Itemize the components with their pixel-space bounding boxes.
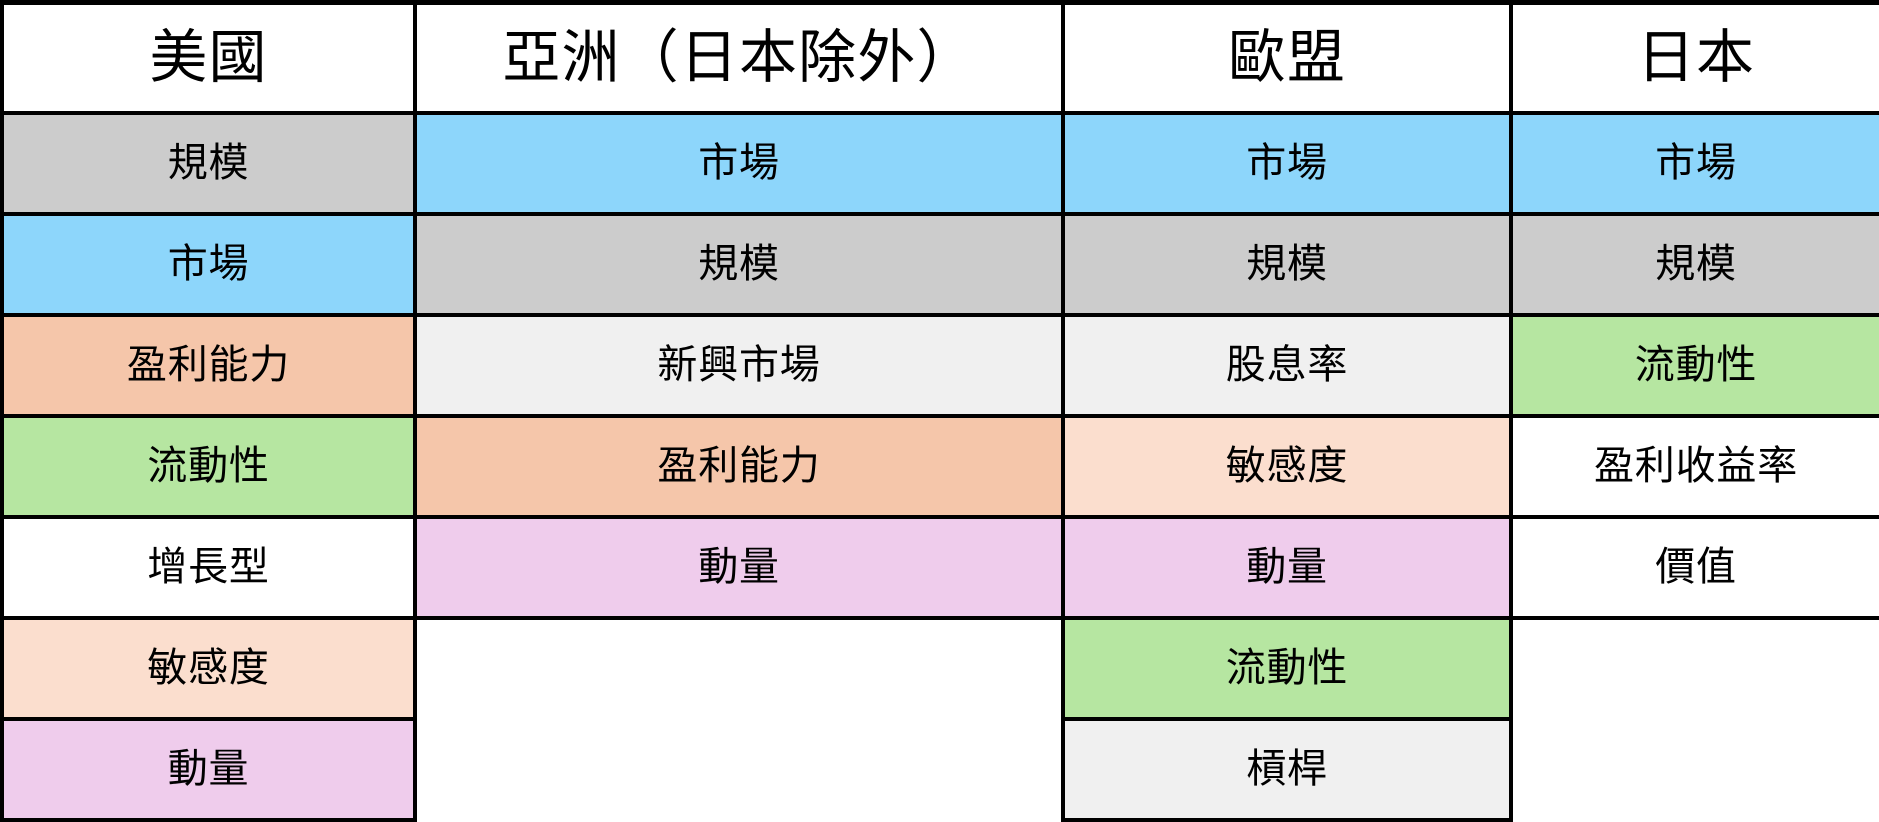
factor-cell: 市場 — [1511, 113, 1879, 214]
factor-cell: 槓桿 — [1063, 719, 1511, 820]
table-header: 美國 亞洲（日本除外） 歐盟 日本 — [2, 3, 1879, 113]
factor-cell: 動量 — [1063, 517, 1511, 618]
factor-table-container: 美國 亞洲（日本除外） 歐盟 日本 規模市場市場市場市場規模規模規模盈利能力新興… — [0, 0, 1879, 819]
factor-cell: 流動性 — [2, 416, 415, 517]
header-row: 美國 亞洲（日本除外） 歐盟 日本 — [2, 3, 1879, 113]
factor-cell: 敏感度 — [2, 618, 415, 719]
factor-cell: 規模 — [2, 113, 415, 214]
factor-cell: 盈利收益率 — [1511, 416, 1879, 517]
factor-cell: 市場 — [415, 113, 1063, 214]
table-row: 動量槓桿 — [2, 719, 1879, 820]
column-header-asia-ex-japan: 亞洲（日本除外） — [415, 3, 1063, 113]
regional-factor-ranking-table: 美國 亞洲（日本除外） 歐盟 日本 規模市場市場市場市場規模規模規模盈利能力新興… — [0, 0, 1879, 822]
factor-cell: 動量 — [2, 719, 415, 820]
factor-cell: 規模 — [1063, 214, 1511, 315]
table-row: 流動性盈利能力敏感度盈利收益率 — [2, 416, 1879, 517]
factor-cell: 盈利能力 — [415, 416, 1063, 517]
table-row: 盈利能力新興市場股息率流動性 — [2, 315, 1879, 416]
factor-cell: 股息率 — [1063, 315, 1511, 416]
column-header-japan: 日本 — [1511, 3, 1879, 113]
factor-cell: 增長型 — [2, 517, 415, 618]
factor-cell: 規模 — [415, 214, 1063, 315]
column-header-us: 美國 — [2, 3, 415, 113]
factor-cell: 市場 — [2, 214, 415, 315]
factor-cell: 規模 — [1511, 214, 1879, 315]
factor-cell: 流動性 — [1511, 315, 1879, 416]
empty-cell — [415, 719, 1063, 820]
table-row: 敏感度流動性 — [2, 618, 1879, 719]
factor-cell: 敏感度 — [1063, 416, 1511, 517]
table-row: 市場規模規模規模 — [2, 214, 1879, 315]
factor-cell: 新興市場 — [415, 315, 1063, 416]
table-body: 規模市場市場市場市場規模規模規模盈利能力新興市場股息率流動性流動性盈利能力敏感度… — [2, 113, 1879, 820]
column-header-eu: 歐盟 — [1063, 3, 1511, 113]
table-row: 增長型動量動量價值 — [2, 517, 1879, 618]
empty-cell — [1511, 719, 1879, 820]
factor-cell: 流動性 — [1063, 618, 1511, 719]
factor-cell: 盈利能力 — [2, 315, 415, 416]
empty-cell — [415, 618, 1063, 719]
table-row: 規模市場市場市場 — [2, 113, 1879, 214]
factor-cell: 價值 — [1511, 517, 1879, 618]
factor-cell: 市場 — [1063, 113, 1511, 214]
factor-cell: 動量 — [415, 517, 1063, 618]
empty-cell — [1511, 618, 1879, 719]
